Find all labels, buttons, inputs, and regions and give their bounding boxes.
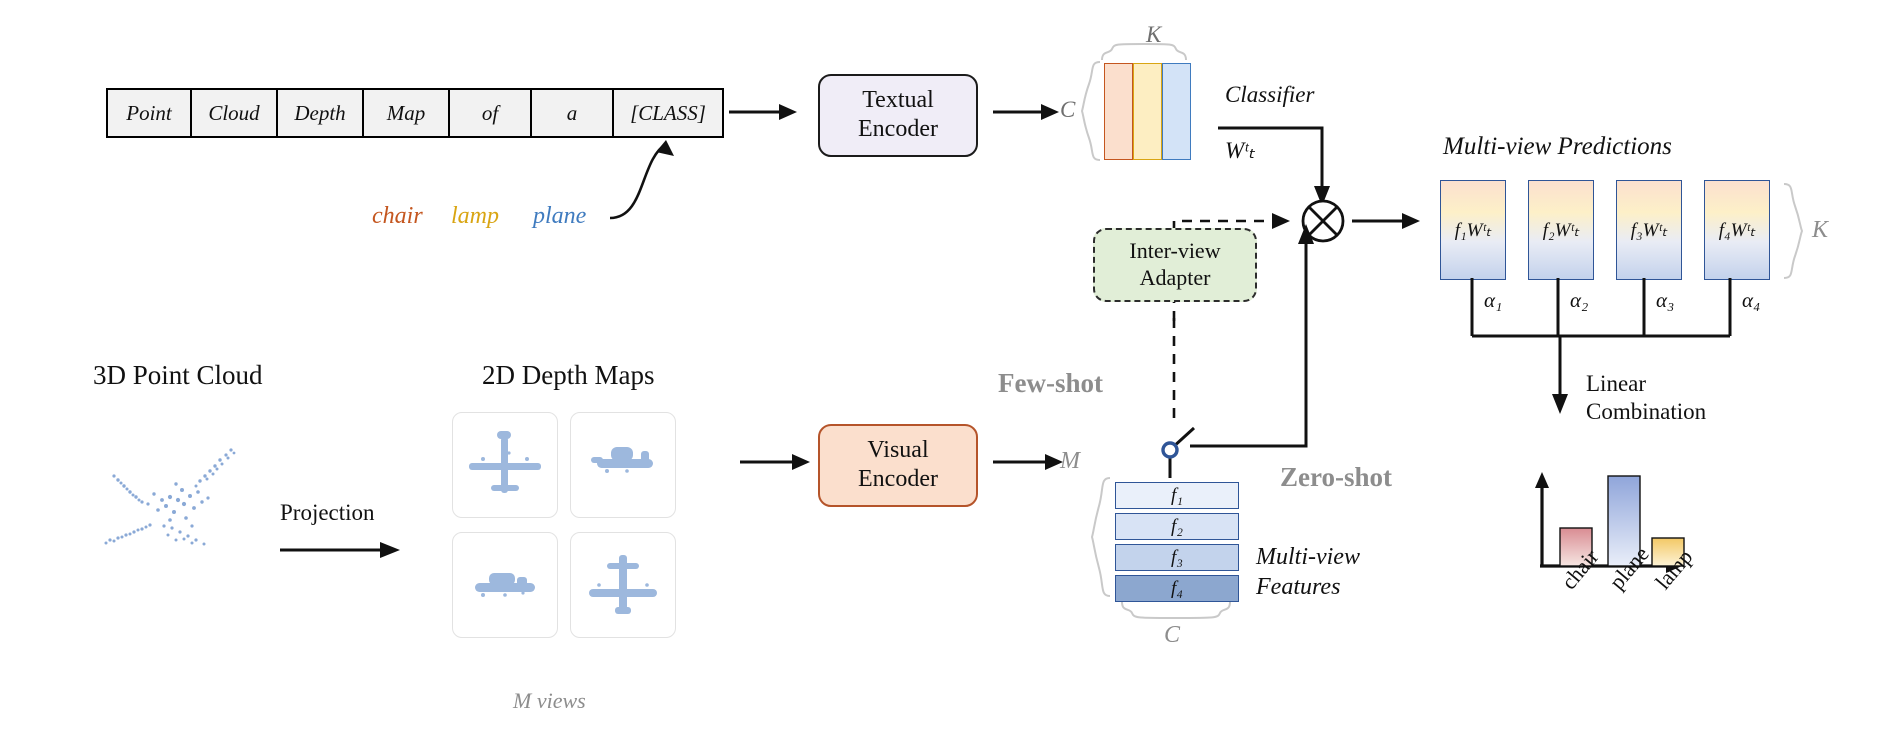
depth-map-tile-view1[interactable]: [452, 412, 558, 518]
textual-encoder-box: Textual Encoder: [818, 74, 978, 157]
linear-combination-label: Linear Combination: [1586, 370, 1706, 426]
class-word-lamp: lamp: [451, 203, 499, 230]
features-m-brace-icon: [1092, 476, 1112, 600]
feature-row: f₄: [1115, 575, 1239, 602]
linear-combination-line1: Linear: [1586, 370, 1706, 398]
depth-map-render-rear: [571, 533, 675, 637]
point-cloud-visual: [70, 440, 280, 575]
prompt-token: Depth: [278, 90, 364, 136]
point-cloud-title: 3D Point Cloud: [93, 360, 263, 391]
depth-map-tile-view2[interactable]: [570, 412, 676, 518]
predictions-title: Multi-view Predictions: [1443, 133, 1672, 161]
depth-map-render-front: [453, 413, 557, 517]
class-insert-arrow-icon: [600, 130, 710, 225]
textual-encoder-line2: Encoder: [820, 115, 976, 144]
arrow-prompt-to-textual-encoder: [729, 100, 804, 124]
feature-row: f₁: [1115, 482, 1239, 509]
visual-encoder-line1: Visual: [820, 436, 976, 465]
features-dim-m-label: M: [1060, 448, 1080, 475]
arrow-depthmaps-to-visual-encoder: [740, 450, 816, 474]
prompt-token: Cloud: [192, 90, 278, 136]
predictions-dim-k-label: K: [1812, 217, 1828, 244]
depth-map-grid: [452, 412, 674, 638]
features-caption: Multi-view Features: [1256, 542, 1360, 602]
prediction-box-row: f₁Wᵗₜ f₂Wᵗₜ f₃Wᵗₜ f₄Wᵗₜ: [1440, 180, 1770, 280]
prediction-box: f₃Wᵗₜ: [1616, 180, 1682, 280]
depth-maps-title: 2D Depth Maps: [482, 360, 654, 391]
feature-row: f₂: [1115, 513, 1239, 540]
classifier-c-brace-icon: [1082, 60, 1102, 162]
prediction-box: f₄Wᵗₜ: [1704, 180, 1770, 280]
classifier-column-plane: [1162, 63, 1191, 160]
prediction-box: f₁Wᵗₜ: [1440, 180, 1506, 280]
few-shot-label: Few-shot: [998, 368, 1103, 399]
features-caption-line2: Features: [1256, 572, 1360, 602]
arrow-visual-encoder-to-features: [993, 450, 1069, 474]
class-word-chair: chair: [372, 203, 423, 230]
visual-encoder-line2: Encoder: [820, 465, 976, 494]
arrow-projection: [280, 538, 410, 562]
classifier-column-chair: [1104, 63, 1133, 160]
zero-shot-label: Zero-shot: [1280, 462, 1392, 493]
multi-view-feature-stack: f₁ f₂ f₃ f₄: [1115, 482, 1239, 606]
feature-row: f₃: [1115, 544, 1239, 571]
arrow-multiply-to-predictions: [1352, 209, 1430, 233]
class-word-plane: plane: [533, 203, 586, 230]
views-caption: M views: [513, 688, 586, 714]
adapter-dashed-path-lower: [1170, 318, 1180, 426]
features-caption-line1: Multi-view: [1256, 542, 1360, 572]
features-dim-c-label: C: [1164, 622, 1180, 649]
classifier-label: Classifier: [1225, 82, 1314, 108]
predictions-k-brace-icon: [1784, 182, 1804, 280]
depth-map-tile-view3[interactable]: [452, 532, 558, 638]
prediction-box: f₂Wᵗₜ: [1528, 180, 1594, 280]
arrow-to-bar-chart: [1548, 336, 1572, 420]
zero-shot-path: [1188, 218, 1338, 450]
features-c-brace-icon: [1120, 602, 1236, 620]
classifier-dim-c-label: C: [1060, 97, 1075, 123]
projection-label: Projection: [280, 500, 375, 526]
alpha-weight: α₂: [1570, 288, 1588, 313]
visual-encoder-box: Visual Encoder: [818, 424, 978, 507]
depth-map-tile-view4[interactable]: [570, 532, 676, 638]
depth-map-render-top: [453, 533, 557, 637]
classifier-weight-matrix: [1104, 63, 1191, 160]
textual-encoder-line1: Textual: [820, 86, 976, 115]
alpha-weight: α₃: [1656, 288, 1674, 313]
classifier-k-brace-icon: [1100, 44, 1192, 62]
arrow-textual-encoder-to-classifier: [993, 100, 1065, 124]
alpha-weight: α₄: [1742, 288, 1760, 313]
alpha-weight: α₁: [1484, 288, 1502, 313]
depth-map-render-side: [571, 413, 675, 517]
linear-combination-line2: Combination: [1586, 398, 1706, 426]
prompt-token: Map: [364, 90, 450, 136]
prompt-token: of: [450, 90, 532, 136]
prompt-token: Point: [108, 90, 192, 136]
classifier-column-lamp: [1133, 63, 1162, 160]
